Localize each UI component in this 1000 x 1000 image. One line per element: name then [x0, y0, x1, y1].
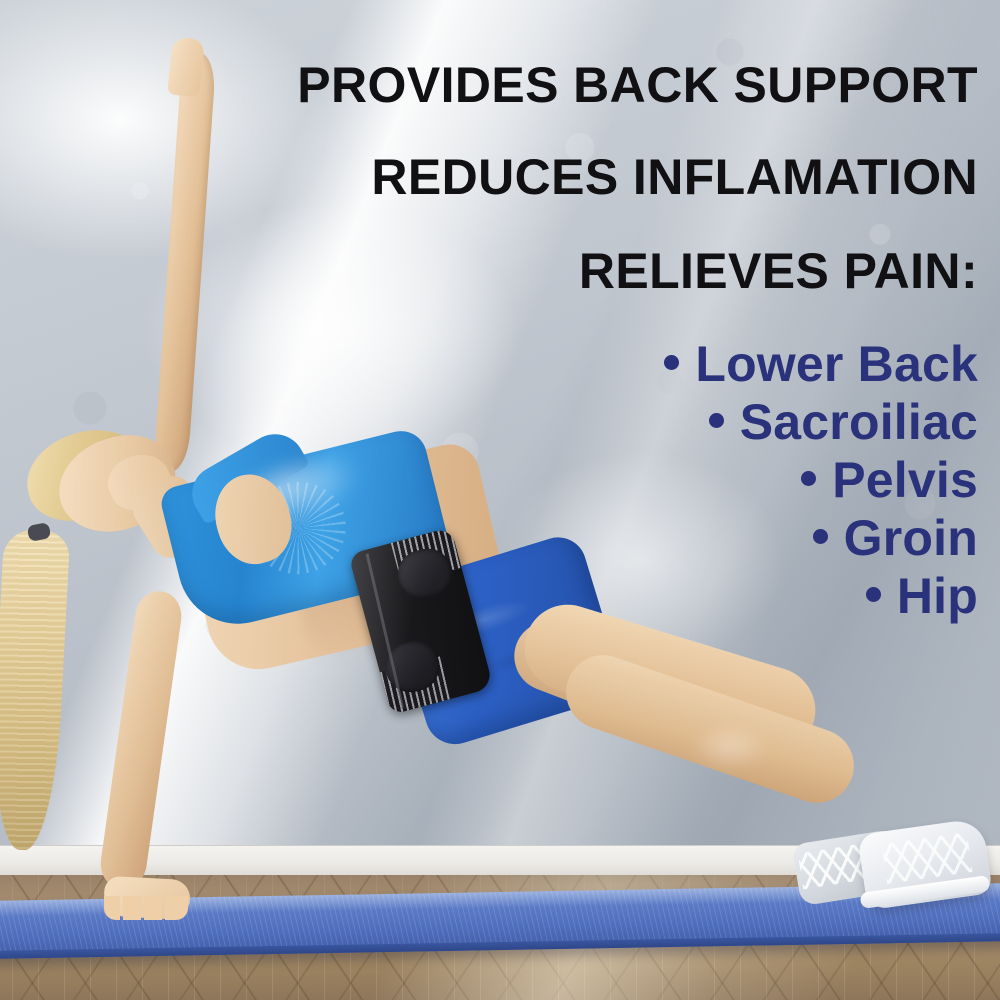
list-item: Pelvis — [458, 454, 978, 506]
headline-line-3: RELIEVES PAIN: — [579, 246, 978, 296]
pain-area-label: Hip — [897, 570, 978, 622]
bullet-dot-icon — [664, 355, 679, 370]
pain-area-label: Lower Back — [695, 338, 978, 390]
pain-area-label: Groin — [844, 512, 978, 564]
fingers — [104, 896, 188, 920]
headline-line-1: PROVIDES BACK SUPPORT — [297, 60, 978, 110]
list-item: Groin — [458, 512, 978, 564]
raised-hand — [167, 36, 205, 97]
bullet-dot-icon — [801, 471, 816, 486]
bullet-dot-icon — [709, 413, 724, 428]
product-marketing-image: PROVIDES BACK SUPPORT REDUCES INFLAMATIO… — [0, 0, 1000, 1000]
supporting-arm — [97, 588, 184, 891]
pain-area-label: Pelvis — [832, 454, 978, 506]
ponytail-strands — [0, 528, 70, 851]
pain-areas-list: Lower Back Sacroiliac Pelvis Groin Hip — [458, 338, 978, 628]
bullet-dot-icon — [866, 587, 881, 602]
list-item: Hip — [458, 570, 978, 622]
raised-arm — [153, 51, 216, 472]
knee-highlight — [690, 730, 770, 770]
ponytail — [0, 528, 70, 851]
list-item: Lower Back — [458, 338, 978, 390]
list-item: Sacroiliac — [458, 396, 978, 448]
pain-area-label: Sacroiliac — [740, 396, 978, 448]
headline-line-2: REDUCES INFLAMATION — [371, 152, 978, 202]
bullet-dot-icon — [813, 529, 828, 544]
